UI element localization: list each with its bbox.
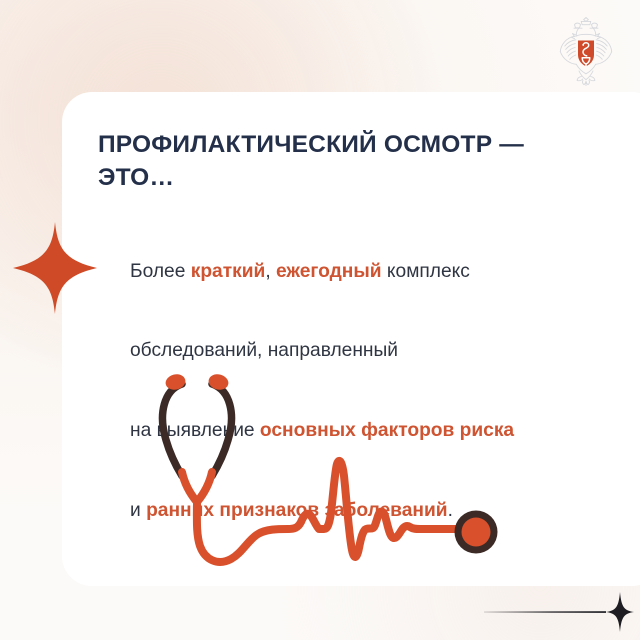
body-run-highlight: краткий xyxy=(191,261,266,282)
ministry-of-health-emblem xyxy=(552,12,620,88)
sparkle-star-orange-icon xyxy=(13,222,97,314)
poster-canvas: ПРОФИЛАКТИЧЕСКИЙ ОСМОТР — ЭТО… Более кра… xyxy=(0,0,640,640)
sparkle-star-dark-icon xyxy=(484,592,636,632)
page-title: ПРОФИЛАКТИЧЕСКИЙ ОСМОТР — ЭТО… xyxy=(98,128,568,194)
body-run: обследований, направленный xyxy=(130,340,398,361)
body-run: комплекс xyxy=(382,261,470,282)
body-run: Более xyxy=(130,261,191,282)
stethoscope-ecg-illustration xyxy=(130,368,520,580)
body-run: , xyxy=(265,261,276,282)
body-line-1: Более краткий, ежегодный комплекс xyxy=(98,232,598,312)
body-run-highlight: ежегодный xyxy=(276,261,382,282)
